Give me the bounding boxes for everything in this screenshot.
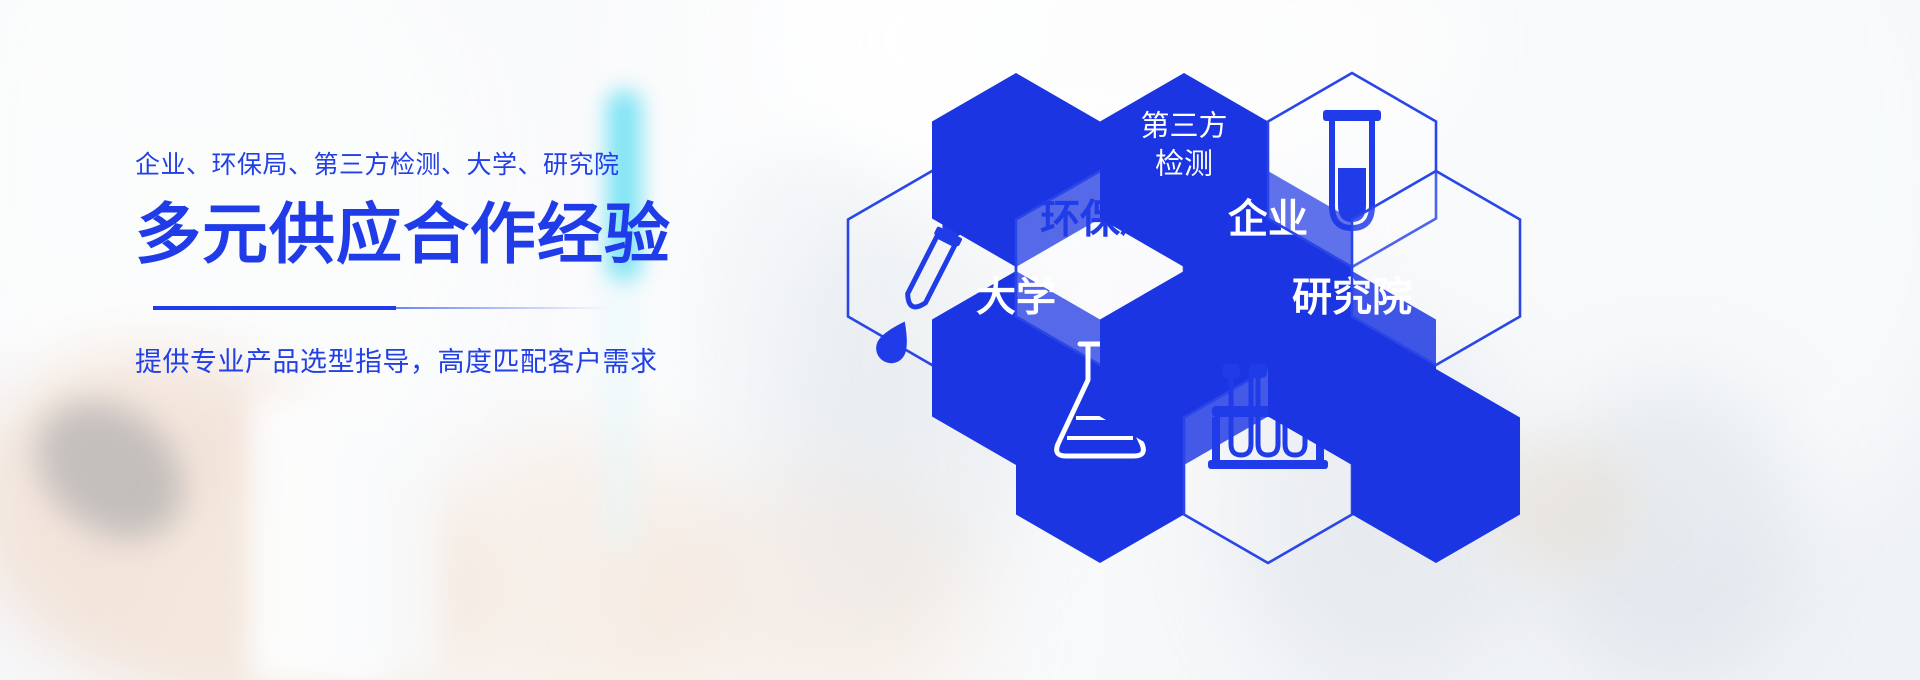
divider-fade — [396, 307, 608, 309]
promo-banner: 企业、环保局、第三方检测、大学、研究院 多元供应合作经验 提供专业产品选型指导，… — [0, 0, 1920, 680]
eyebrow-text: 企业、环保局、第三方检测、大学、研究院 — [135, 150, 755, 180]
headline-block: 企业、环保局、第三方检测、大学、研究院 多元供应合作经验 提供专业产品选型指导，… — [135, 150, 755, 379]
divider — [153, 306, 608, 310]
divider-solid — [153, 306, 396, 310]
page-title: 多元供应合作经验 — [135, 202, 755, 268]
subtitle-text: 提供专业产品选型指导，高度匹配客户需求 — [135, 340, 755, 379]
